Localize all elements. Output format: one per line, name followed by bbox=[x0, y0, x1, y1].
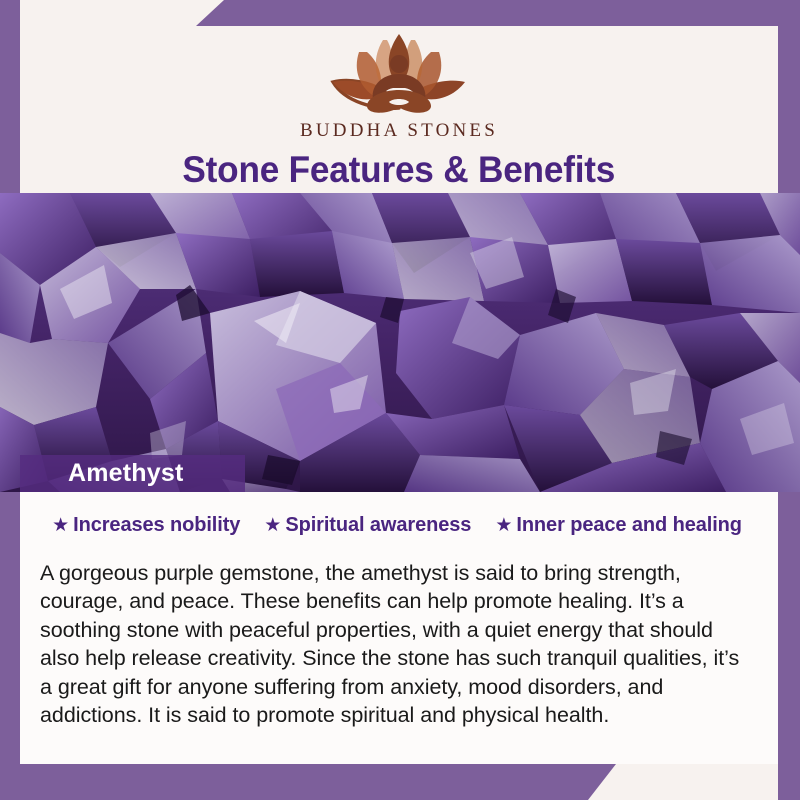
page-title: Stone Features & Benefits bbox=[183, 149, 616, 191]
feature-label: Increases nobility bbox=[73, 514, 240, 537]
amethyst-crystal-cluster-photo bbox=[0, 193, 800, 492]
star-icon: ★ bbox=[52, 516, 69, 535]
feature-label: Spiritual awareness bbox=[285, 514, 471, 537]
brand-logo: BUDDHA STONES bbox=[300, 30, 498, 142]
stone-description: A gorgeous purple gemstone, the amethyst… bbox=[40, 559, 754, 731]
feature-item-spiritual-awareness: ★ Spiritual awareness bbox=[264, 514, 471, 537]
stone-name-banner: Amethyst bbox=[20, 455, 245, 492]
poster-header: BUDDHA STONES Stone Features & Benefits bbox=[20, 26, 778, 193]
feature-list: ★ Increases nobility ★ Spiritual awarene… bbox=[40, 514, 754, 537]
feature-item-inner-peace-and-healing: ★ Inner peace and healing bbox=[495, 514, 742, 537]
frame-top-band bbox=[0, 0, 800, 26]
brand-wordmark: BUDDHA STONES bbox=[300, 120, 498, 142]
feature-item-increases-nobility: ★ Increases nobility bbox=[52, 514, 240, 537]
star-icon: ★ bbox=[264, 516, 281, 535]
star-icon: ★ bbox=[495, 516, 512, 535]
lotus-meditation-figure-icon bbox=[315, 30, 483, 118]
crystal-illustration bbox=[0, 193, 800, 492]
frame-bottom-band bbox=[0, 764, 800, 800]
feature-label: Inner peace and healing bbox=[516, 514, 742, 537]
stone-info-poster: BUDDHA STONES Stone Features & Benefits bbox=[0, 0, 800, 800]
stone-name-label: Amethyst bbox=[68, 459, 184, 488]
content-panel: ★ Increases nobility ★ Spiritual awarene… bbox=[20, 492, 778, 764]
